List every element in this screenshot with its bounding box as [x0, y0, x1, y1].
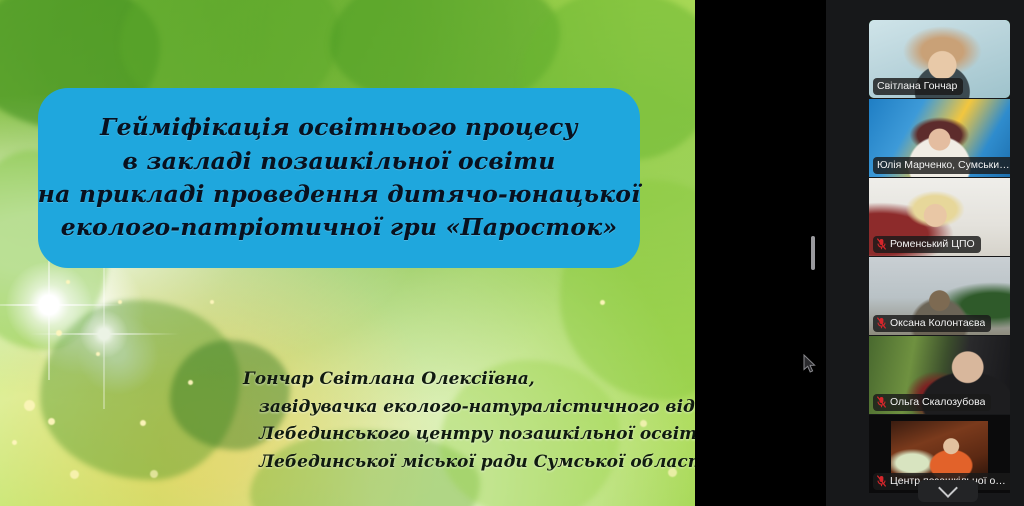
- participant-name: Роменський ЦПО: [890, 237, 975, 251]
- author-name: Гончар Світлана Олексіївна,: [243, 366, 673, 394]
- participant-name-badge: Оксана Колонтаєва: [873, 315, 991, 332]
- participant-name: Оксана Колонтаєва: [890, 316, 985, 330]
- bokeh-spark: [140, 420, 146, 426]
- participants-filmstrip-panel: Світлана Гончар Юлія Марченко, Сумський …: [826, 0, 1024, 506]
- bokeh-spark: [188, 380, 193, 385]
- bokeh-spark: [24, 400, 35, 411]
- participant-name-badge: Роменський ЦПО: [873, 236, 981, 253]
- participant-tile[interactable]: Юлія Марченко, Сумський …: [869, 99, 1010, 177]
- bokeh-spark: [150, 470, 158, 478]
- presentation-slide[interactable]: Гейміфікація освітнього процесу в заклад…: [0, 0, 695, 506]
- participant-video: [891, 421, 988, 481]
- participant-tile[interactable]: Роменський ЦПО: [869, 178, 1010, 256]
- bokeh-spark: [118, 300, 122, 304]
- participant-tile[interactable]: Ольга Скалозубова: [869, 336, 1010, 414]
- author-institution: Лебединського центру позашкільної освіти: [259, 421, 673, 449]
- filmstrip-scroll-down-button[interactable]: [918, 480, 978, 502]
- bokeh-spark: [56, 330, 62, 336]
- author-position: завідувачка еколого-натуралістичного від…: [259, 394, 673, 422]
- bokeh-spark: [48, 418, 55, 425]
- mic-muted-icon: [877, 475, 886, 487]
- panel-resize-grip[interactable]: [811, 236, 815, 270]
- slide-title-line-4: еколого-патріотичної гри «Паросток»: [61, 211, 618, 244]
- author-region: Лебединської міської ради Сумської облас…: [259, 449, 673, 477]
- participant-name-badge: Світлана Гончар: [873, 78, 963, 95]
- participant-name-badge: Юлія Марченко, Сумський …: [873, 157, 1010, 174]
- mic-muted-icon: [877, 238, 886, 250]
- shared-screen-stage[interactable]: Гейміфікація освітнього процесу в заклад…: [0, 0, 860, 506]
- participant-name-badge: Ольга Скалозубова: [873, 394, 991, 411]
- bokeh-spark: [96, 352, 100, 356]
- participant-name: Юлія Марченко, Сумський …: [877, 158, 1010, 172]
- bokeh-spark: [70, 470, 79, 479]
- mic-muted-icon: [877, 396, 886, 408]
- slide-author-block: Гончар Світлана Олексіївна, завідувачка …: [243, 366, 673, 476]
- lens-flare: [6, 262, 92, 348]
- participant-tile[interactable]: Світлана Гончар: [869, 20, 1010, 98]
- bokeh-spark: [600, 300, 605, 305]
- bokeh-spark: [66, 280, 70, 284]
- slide-title-card: Гейміфікація освітнього процесу в заклад…: [38, 88, 640, 268]
- mic-muted-icon: [877, 317, 886, 329]
- slide-title-line-3: на прикладі проведення дитячо-юнацької: [38, 178, 641, 211]
- bokeh-spark: [12, 440, 17, 445]
- participant-tile-list[interactable]: Світлана Гончар Юлія Марченко, Сумський …: [869, 20, 1012, 494]
- participant-name: Світлана Гончар: [877, 79, 957, 93]
- slide-title-line-2: в закладі позашкільної освіти: [122, 145, 555, 178]
- lens-flare: [80, 310, 128, 358]
- mouse-pointer-icon: [803, 354, 817, 374]
- participant-name: Ольга Скалозубова: [890, 395, 985, 409]
- bokeh-spark: [210, 300, 214, 304]
- participant-tile[interactable]: Оксана Колонтаєва: [869, 257, 1010, 335]
- chevron-down-icon: [938, 478, 958, 498]
- screen-share-meeting-window: Гейміфікація освітнього процесу в заклад…: [0, 0, 1024, 506]
- foliage-blob: [40, 300, 240, 480]
- slide-title-line-1: Гейміфікація освітнього процесу: [100, 111, 578, 144]
